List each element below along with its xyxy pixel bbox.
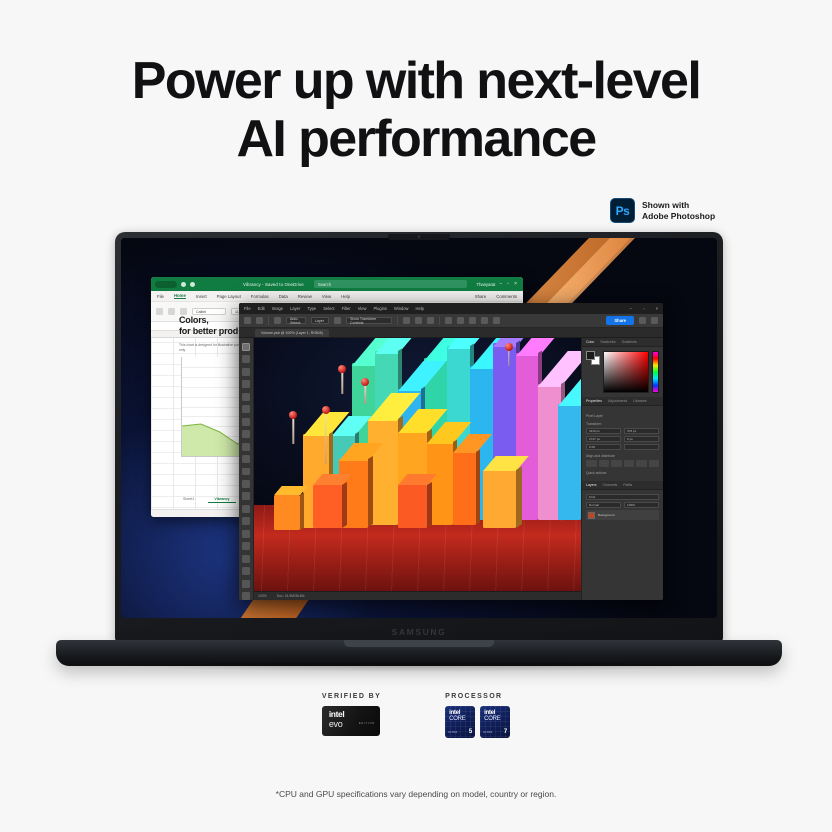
transform-width-field[interactable]: 3113 px bbox=[586, 428, 621, 434]
webcam-icon bbox=[418, 235, 421, 238]
quick-actions-label: Quick actions bbox=[586, 471, 659, 475]
photoshop-credit-line-2: Adobe Photoshop bbox=[642, 211, 715, 222]
ps-menu-image[interactable]: Image bbox=[272, 306, 283, 311]
maximize-icon[interactable]: ▫ bbox=[507, 281, 509, 287]
excel-share-button[interactable]: Share bbox=[475, 294, 486, 299]
excel-menu-insert[interactable]: Insert bbox=[196, 294, 207, 299]
excel-menu-file[interactable]: File bbox=[157, 294, 164, 299]
undo-icon[interactable] bbox=[156, 308, 163, 315]
options-divider bbox=[397, 316, 398, 325]
align-middle-icon[interactable] bbox=[636, 460, 647, 467]
type-tool-icon[interactable] bbox=[242, 542, 250, 550]
photoshop-menubar[interactable]: File Edit Image Layer Type Select Filter… bbox=[239, 303, 663, 314]
align-bottom-icon[interactable] bbox=[649, 460, 660, 467]
workspace-icon[interactable] bbox=[651, 317, 658, 324]
font-name-select[interactable]: Calibri bbox=[192, 308, 226, 315]
history-brush-tool-icon[interactable] bbox=[242, 468, 250, 476]
intel-evo-brand: intel bbox=[329, 710, 380, 719]
eraser-tool-icon[interactable] bbox=[242, 480, 250, 488]
move-tool-icon[interactable] bbox=[242, 343, 250, 351]
save-icon[interactable] bbox=[181, 282, 186, 287]
marquee-tool-icon[interactable] bbox=[242, 355, 250, 363]
intel-core-ultra-7-badge: intel CORE ULTRA 7 bbox=[480, 706, 510, 738]
options-divider bbox=[268, 316, 269, 325]
paste-icon[interactable] bbox=[168, 308, 175, 315]
laptop-display: Vibrancy - Saved to OneDrive Search Than… bbox=[121, 238, 717, 618]
color-picker-field[interactable] bbox=[603, 351, 649, 393]
lasso-tool-icon[interactable] bbox=[242, 368, 250, 376]
color-panel-tabs[interactable]: Color Swatches Gradients bbox=[582, 338, 663, 347]
core-tier: ULTRA bbox=[483, 731, 492, 734]
document-size: Doc: 24.9M/36.8M bbox=[277, 594, 305, 598]
sheet-heading: Colors, for better prod bbox=[179, 315, 238, 337]
search-icon[interactable] bbox=[639, 317, 646, 324]
ps-menu-view[interactable]: View bbox=[358, 306, 367, 311]
healing-brush-tool-icon[interactable] bbox=[242, 430, 250, 438]
three-d-mode-icon[interactable] bbox=[493, 317, 500, 324]
layers-panel-tabs[interactable]: Layers Channels Paths bbox=[582, 481, 663, 490]
block bbox=[558, 404, 581, 520]
ps-menu-filter[interactable]: Filter bbox=[342, 306, 351, 311]
distribute-middle-icon[interactable] bbox=[457, 317, 464, 324]
excel-menu-help[interactable]: Help bbox=[341, 294, 350, 299]
photoshop-credit: Ps Shown with Adobe Photoshop bbox=[610, 198, 715, 223]
properties-panel-tabs[interactable]: Properties Adjustments Libraries bbox=[582, 397, 663, 406]
excel-window-controls[interactable]: − ▫ × bbox=[499, 281, 519, 287]
align-buttons[interactable] bbox=[586, 460, 659, 467]
layer-name: Background bbox=[598, 513, 615, 517]
dodge-tool-icon[interactable] bbox=[242, 517, 250, 525]
sheet-heading-line-2: for better prod bbox=[179, 326, 238, 337]
minimize-icon[interactable]: − bbox=[499, 281, 502, 287]
desktop-wallpaper: Vibrancy - Saved to OneDrive Search Than… bbox=[121, 238, 717, 618]
photoshop-document-tabbar[interactable]: Volume.psb @ 100% (Layer 1, RGB/8) bbox=[239, 328, 663, 338]
intel-core-badges: intel CORE ULTRA 5 intel CORE ULTRA 7 bbox=[445, 706, 510, 738]
layer-filter-kind[interactable]: Kind bbox=[586, 494, 659, 500]
excel-menubar[interactable]: File Home Insert Page Layout Formulas Da… bbox=[151, 291, 523, 302]
block bbox=[483, 470, 516, 528]
align-left-icon[interactable] bbox=[403, 317, 410, 324]
excel-search-input[interactable]: Search bbox=[314, 280, 467, 288]
pen-tool-icon[interactable] bbox=[242, 530, 250, 538]
autosave-toggle[interactable] bbox=[155, 281, 177, 288]
zoom-level[interactable]: 100% bbox=[258, 594, 267, 598]
transform-angle-field[interactable]: 0.00 bbox=[586, 444, 621, 450]
ps-menu-window[interactable]: Window bbox=[394, 306, 409, 311]
excel-menu-view[interactable]: View bbox=[322, 294, 331, 299]
photoshop-options-bar[interactable]: Auto-Select: Layer Show Transform Contro… bbox=[239, 314, 663, 328]
tab-properties[interactable]: Properties bbox=[586, 399, 602, 403]
photoshop-panels[interactable]: Color Swatches Gradients bbox=[581, 338, 663, 600]
sheet-heading-line-1: Colors, bbox=[179, 315, 238, 326]
frame-tool-icon[interactable] bbox=[242, 405, 250, 413]
share-button[interactable]: Share bbox=[606, 316, 634, 325]
ps-menu-plugins[interactable]: Plugins bbox=[374, 306, 387, 311]
photoshop-credit-text: Shown with Adobe Photoshop bbox=[642, 200, 715, 221]
ps-menu-file[interactable]: File bbox=[244, 306, 251, 311]
tab-libraries[interactable]: Libraries bbox=[633, 399, 646, 403]
ps-menu-type[interactable]: Type bbox=[307, 306, 316, 311]
tab-adjustments[interactable]: Adjustments bbox=[608, 399, 627, 403]
tab-color[interactable]: Color bbox=[586, 340, 594, 344]
page-title: Power up with next-level AI performance bbox=[0, 54, 832, 166]
transform-x-field[interactable]: 2747 px bbox=[586, 436, 621, 442]
layer-list-item[interactable]: Background bbox=[586, 510, 659, 520]
foreground-background-swatches[interactable] bbox=[586, 351, 600, 365]
color-panel-body[interactable] bbox=[582, 347, 663, 397]
minimize-icon[interactable]: − bbox=[630, 306, 632, 311]
options-divider bbox=[439, 316, 440, 325]
undo-icon[interactable] bbox=[190, 282, 195, 287]
tab-swatches[interactable]: Swatches bbox=[600, 340, 615, 344]
move-tool-icon[interactable] bbox=[256, 317, 263, 324]
ps-menu-help[interactable]: Help bbox=[416, 306, 424, 311]
close-icon[interactable]: × bbox=[656, 306, 658, 311]
excel-comments-button[interactable]: Comments bbox=[496, 294, 517, 299]
layer-type-label: Pixel Layer bbox=[586, 414, 659, 418]
hand-tool-icon[interactable] bbox=[242, 580, 250, 588]
badge-group-verified-by: VERIFIED BY intel evo EDITION bbox=[322, 693, 381, 738]
verified-by-label: VERIFIED BY bbox=[322, 693, 381, 700]
blend-mode-select[interactable]: Normal bbox=[586, 502, 621, 508]
transform-height-field[interactable]: 376 px bbox=[624, 428, 659, 434]
layer-thumbnail bbox=[588, 512, 595, 519]
tab-channels[interactable]: Channels bbox=[603, 483, 618, 487]
blur-tool-icon[interactable] bbox=[242, 505, 250, 513]
align-right-icon[interactable] bbox=[611, 460, 622, 467]
opacity-field[interactable]: 100% bbox=[624, 502, 659, 508]
crop-tool-icon[interactable] bbox=[242, 393, 250, 401]
samsung-brand-logo: SAMSUNG bbox=[115, 627, 723, 637]
block bbox=[398, 485, 427, 528]
photoshop-credit-line-1: Shown with bbox=[642, 200, 715, 211]
ps-menu-edit[interactable]: Edit bbox=[258, 306, 265, 311]
sheet-tab-1[interactable]: Sheet1 bbox=[177, 496, 200, 503]
align-center-icon[interactable] bbox=[415, 317, 422, 324]
tab-paths[interactable]: Paths bbox=[623, 483, 632, 487]
core-brand: intel bbox=[484, 710, 510, 716]
artwork-3d-blocks bbox=[254, 338, 581, 591]
core-product: CORE bbox=[449, 716, 475, 723]
align-right-icon[interactable] bbox=[427, 317, 434, 324]
excel-menu-home[interactable]: Home bbox=[174, 293, 186, 299]
photoshop-window[interactable]: File Edit Image Layer Type Select Filter… bbox=[239, 303, 663, 600]
show-transform-checkbox[interactable] bbox=[334, 317, 341, 324]
transform-section-label: Transform bbox=[586, 422, 659, 426]
auto-select-checkbox[interactable] bbox=[274, 317, 281, 324]
distribute-top-icon[interactable] bbox=[445, 317, 452, 324]
block bbox=[313, 485, 342, 528]
core-product: CORE bbox=[484, 716, 510, 723]
excel-menu-data[interactable]: Data bbox=[279, 294, 288, 299]
hue-slider[interactable] bbox=[652, 351, 659, 393]
intel-evo-suffix: EDITION bbox=[359, 722, 410, 725]
intel-core-ultra-5-badge: intel CORE ULTRA 5 bbox=[445, 706, 475, 738]
home-icon[interactable] bbox=[244, 317, 251, 324]
eyedropper-tool-icon[interactable] bbox=[242, 418, 250, 426]
flip-controls[interactable] bbox=[624, 444, 659, 450]
document-tab[interactable]: Volume.psb @ 100% (Layer 1, RGB/8) bbox=[255, 329, 329, 337]
auto-select-label: Auto-Select: bbox=[286, 317, 306, 324]
laptop-shadow bbox=[96, 662, 742, 672]
excel-document-title: Vibrancy - Saved to OneDrive bbox=[243, 282, 304, 287]
laptop-lid: Vibrancy - Saved to OneDrive Search Than… bbox=[115, 232, 723, 642]
adobe-photoshop-icon: Ps bbox=[610, 198, 635, 223]
core-number: 5 bbox=[469, 729, 472, 735]
distribute-bottom-icon[interactable] bbox=[469, 317, 476, 324]
shape-tool-icon[interactable] bbox=[242, 567, 250, 575]
sheet-tab-2[interactable]: Vibrancy bbox=[208, 496, 235, 503]
excel-menu-formulas[interactable]: Formulas bbox=[251, 294, 269, 299]
foreground-color-swatch[interactable] bbox=[586, 351, 595, 360]
gradient-tool-icon[interactable] bbox=[242, 492, 250, 500]
ps-menu-select[interactable]: Select bbox=[323, 306, 334, 311]
block bbox=[453, 452, 476, 525]
align-left-icon[interactable] bbox=[586, 460, 597, 467]
headline-line-1: Power up with next-level bbox=[132, 52, 700, 110]
core-number: 7 bbox=[504, 729, 507, 735]
transform-controls-label: Show Transform Controls bbox=[346, 317, 392, 324]
headline-line-2: AI performance bbox=[0, 112, 832, 166]
close-icon[interactable]: × bbox=[514, 281, 517, 287]
footnote-disclaimer: *CPU and GPU specifications vary dependi… bbox=[0, 789, 832, 799]
tab-layers[interactable]: Layers bbox=[586, 483, 597, 487]
intel-evo-badge: intel evo EDITION bbox=[322, 706, 380, 736]
excel-menu-review[interactable]: Review bbox=[298, 294, 312, 299]
core-brand: intel bbox=[449, 710, 475, 716]
clone-stamp-tool-icon[interactable] bbox=[242, 455, 250, 463]
layer-dropdown[interactable]: Layer bbox=[311, 317, 329, 324]
block bbox=[274, 495, 300, 530]
excel-user-name[interactable]: Thanyarat bbox=[477, 282, 496, 287]
object-select-tool-icon[interactable] bbox=[242, 380, 250, 388]
badge-group-processor: PROCESSOR intel CORE ULTRA 5 intel CORE … bbox=[445, 693, 510, 738]
excel-titlebar: Vibrancy - Saved to OneDrive Search Than… bbox=[151, 277, 523, 291]
photoshop-toolbar[interactable] bbox=[239, 338, 254, 600]
photoshop-canvas[interactable] bbox=[254, 338, 581, 591]
core-tier: ULTRA bbox=[448, 731, 457, 734]
promo-page: Power up with next-level AI performance … bbox=[0, 0, 832, 832]
ps-menu-layer[interactable]: Layer bbox=[290, 306, 300, 311]
maximize-icon[interactable]: ▫ bbox=[643, 306, 644, 311]
align-section-label: Align and distribute bbox=[586, 454, 659, 458]
zoom-tool-icon[interactable] bbox=[242, 592, 250, 600]
align-center-icon[interactable] bbox=[599, 460, 610, 467]
certification-badges: VERIFIED BY intel evo EDITION PROCESSOR … bbox=[0, 693, 832, 738]
layers-panel-body[interactable]: Kind Normal 100% Background bbox=[582, 490, 663, 524]
align-top-icon[interactable] bbox=[624, 460, 635, 467]
brush-tool-icon[interactable] bbox=[242, 443, 250, 451]
transform-y-field[interactable]: 0 px bbox=[624, 436, 659, 442]
properties-panel-body[interactable]: Pixel Layer Transform 3113 px 376 px 274… bbox=[582, 406, 663, 481]
tab-gradients[interactable]: Gradients bbox=[622, 340, 637, 344]
format-painter-icon[interactable] bbox=[180, 308, 187, 315]
processor-label: PROCESSOR bbox=[445, 693, 510, 700]
laptop-device: Vibrancy - Saved to OneDrive Search Than… bbox=[56, 232, 782, 672]
photoshop-status-bar: 100% Doc: 24.9M/36.8M bbox=[254, 591, 581, 600]
path-select-tool-icon[interactable] bbox=[242, 555, 250, 563]
more-options-icon[interactable] bbox=[481, 317, 488, 324]
excel-menu-page-layout[interactable]: Page Layout bbox=[217, 294, 241, 299]
